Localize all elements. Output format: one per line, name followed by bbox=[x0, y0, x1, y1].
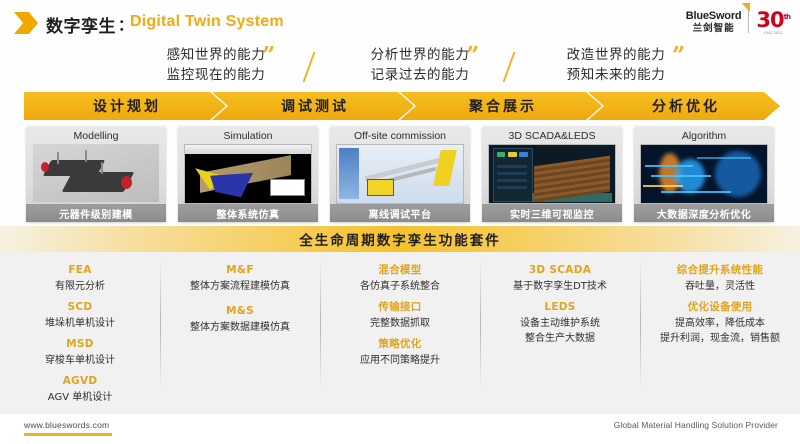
page-title-en: Digital Twin System bbox=[130, 13, 284, 31]
feature-head: 策略优化 bbox=[320, 336, 480, 353]
feature-suite-panel: 全生命周期数字孪生功能套件 FEA 有限元分析 SCD 堆垛机单机设计 MSD … bbox=[0, 226, 800, 414]
feature-head: M&S bbox=[160, 303, 320, 320]
footer-website-link[interactable]: www.blueswords.com bbox=[24, 420, 109, 430]
capability-line-2b: 记录过去的能力 bbox=[332, 66, 508, 86]
feature-head: LEDS bbox=[480, 299, 640, 316]
feature-desc: 应用不同策略提升 bbox=[320, 353, 480, 368]
double-chevron-icon bbox=[14, 12, 38, 34]
card-thumbnail-scada bbox=[488, 144, 616, 204]
feature-group: 传输接口 完整数据抓取 bbox=[320, 299, 480, 331]
feature-desc: 基于数字孪生DT技术 bbox=[480, 279, 640, 294]
feature-desc: 整体方案数据建模仿真 bbox=[160, 320, 320, 335]
anniversary-value: 30 bbox=[756, 8, 783, 32]
card-thumbnail-offsite bbox=[336, 144, 464, 204]
step-aggregate-display[interactable]: 聚合展示 bbox=[400, 92, 602, 120]
feature-column-3: 混合模型 各仿真子系统整合 传输接口 完整数据抓取 策略优化 应用不同策略提升 bbox=[320, 256, 480, 411]
card-thumbnail-modelling bbox=[33, 144, 159, 202]
feature-group: 优化设备使用 提高效率，降低成本提升利润，现金流，销售额 bbox=[640, 299, 800, 346]
feature-group: 综合提升系统性能 吞吐量，灵活性 bbox=[640, 262, 800, 294]
feature-column-1: FEA 有限元分析 SCD 堆垛机单机设计 MSD 穿梭车单机设计 AGVD A… bbox=[0, 256, 160, 411]
feature-group: 策略优化 应用不同策略提升 bbox=[320, 336, 480, 368]
capability-cards: Modelling 元器件级别建模 Simulation 整体系统仿真 bbox=[26, 126, 776, 222]
card-title-1: Modelling bbox=[74, 129, 119, 143]
step-commission-test[interactable]: 调试测试 bbox=[212, 92, 414, 120]
card-title-4: 3D SCADA&LEDS bbox=[509, 129, 596, 143]
feature-desc: 整体方案流程建模仿真 bbox=[160, 279, 320, 294]
card-simulation[interactable]: Simulation 整体系统仿真 bbox=[178, 126, 318, 222]
capability-row: 感知世界的能力 监控现在的能力 ” 分析世界的能力 记录过去的能力 ” 改造世界… bbox=[0, 44, 800, 90]
capability-line-1b: 监控现在的能力 bbox=[128, 66, 304, 86]
feature-head: M&F bbox=[160, 262, 320, 279]
card-caption-5: 大数据深度分析优化 bbox=[634, 204, 774, 222]
footer-tagline: Global Material Handling Solution Provid… bbox=[614, 420, 778, 430]
feature-column-4: 3D SCADA 基于数字孪生DT技术 LEDS 设备主动维护系统整合生产大数据 bbox=[480, 256, 640, 411]
company-logo: BlueSword 兰剑智能 30th 1992-2022 bbox=[686, 8, 790, 36]
brand-flag-icon bbox=[741, 3, 750, 13]
capability-block-2: 分析世界的能力 记录过去的能力 bbox=[332, 46, 508, 85]
feature-columns: FEA 有限元分析 SCD 堆垛机单机设计 MSD 穿梭车单机设计 AGVD A… bbox=[0, 256, 800, 411]
feature-desc: 吞吐量，灵活性 bbox=[640, 279, 800, 294]
feature-desc: 堆垛机单机设计 bbox=[0, 316, 160, 331]
capability-line-1a: 感知世界的能力 bbox=[128, 46, 304, 66]
feature-head: 3D SCADA bbox=[480, 262, 640, 279]
feature-head: FEA bbox=[0, 262, 160, 279]
feature-group: MSD 穿梭车单机设计 bbox=[0, 336, 160, 368]
anniversary-number: 30th bbox=[756, 10, 790, 31]
page-title-cn: 数字孪生 bbox=[46, 12, 116, 37]
feature-head: 优化设备使用 bbox=[640, 299, 800, 316]
feature-head: MSD bbox=[0, 336, 160, 353]
card-offsite-commission[interactable]: Off-site commission 离线调试平台 bbox=[330, 126, 470, 222]
card-title-3: Off-site commission bbox=[354, 129, 446, 143]
card-thumbnail-simulation bbox=[184, 144, 312, 204]
feature-group: FEA 有限元分析 bbox=[0, 262, 160, 294]
feature-column-2: M&F 整体方案流程建模仿真 M&S 整体方案数据建模仿真 bbox=[160, 256, 320, 411]
feature-desc: 各仿真子系统整合 bbox=[320, 279, 480, 294]
brand-text: BlueSword 兰剑智能 bbox=[686, 11, 742, 34]
feature-suite-header: 全生命周期数字孪生功能套件 bbox=[0, 226, 800, 252]
capability-line-2a: 分析世界的能力 bbox=[332, 46, 508, 66]
card-caption-4: 实时三维可视监控 bbox=[482, 204, 622, 222]
separator-slash-1 bbox=[303, 52, 316, 82]
feature-desc: 提高效率，降低成本提升利润，现金流，销售额 bbox=[640, 316, 800, 346]
step-analysis-optimization[interactable]: 分析优化 bbox=[588, 92, 780, 120]
step-label-1: 设计规划 bbox=[89, 96, 161, 116]
feature-suite-title: 全生命周期数字孪生功能套件 bbox=[299, 229, 501, 249]
brand-name-en: BlueSword bbox=[686, 11, 742, 22]
quote-mark-icon-3: ” bbox=[672, 44, 685, 67]
slide-header: 数字孪生 ： Digital Twin System BlueSword 兰剑智… bbox=[0, 0, 800, 42]
card-title-2: Simulation bbox=[223, 129, 272, 143]
feature-head: 传输接口 bbox=[320, 299, 480, 316]
brand-name-cn: 兰剑智能 bbox=[693, 24, 735, 34]
card-caption-1: 元器件级别建模 bbox=[26, 204, 166, 222]
feature-group: 混合模型 各仿真子系统整合 bbox=[320, 262, 480, 294]
card-title-5: Algorithm bbox=[682, 129, 726, 143]
step-label-4: 分析优化 bbox=[648, 96, 720, 116]
feature-desc: AGV 单机设计 bbox=[0, 390, 160, 405]
feature-group: 3D SCADA 基于数字孪生DT技术 bbox=[480, 262, 640, 294]
feature-head: SCD bbox=[0, 299, 160, 316]
logo-divider bbox=[748, 11, 749, 33]
feature-group: M&S 整体方案数据建模仿真 bbox=[160, 303, 320, 335]
feature-desc: 设备主动维护系统整合生产大数据 bbox=[480, 316, 640, 346]
quote-mark-icon-1: ” bbox=[262, 44, 275, 67]
quote-mark-icon-2: ” bbox=[466, 44, 479, 67]
card-thumbnail-algorithm bbox=[640, 144, 768, 204]
feature-column-5: 综合提升系统性能 吞吐量，灵活性 优化设备使用 提高效率，降低成本提升利润，现金… bbox=[640, 256, 800, 411]
feature-head: 混合模型 bbox=[320, 262, 480, 279]
card-modelling[interactable]: Modelling 元器件级别建模 bbox=[26, 126, 166, 222]
card-3d-scada[interactable]: 3D SCADA&LEDS 实时三维可视监控 bbox=[482, 126, 622, 222]
card-caption-2: 整体系统仿真 bbox=[178, 204, 318, 222]
feature-group: M&F 整体方案流程建模仿真 bbox=[160, 262, 320, 294]
step-design-planning[interactable]: 设计规划 bbox=[24, 92, 226, 120]
footer-underline bbox=[24, 433, 112, 436]
feature-head: AGVD bbox=[0, 373, 160, 390]
anniversary-suffix: th bbox=[784, 13, 790, 21]
feature-desc: 完整数据抓取 bbox=[320, 316, 480, 331]
slide-footer: www.blueswords.com Global Material Handl… bbox=[0, 414, 800, 444]
step-label-2: 调试测试 bbox=[277, 96, 349, 116]
step-label-3: 聚合展示 bbox=[465, 96, 537, 116]
slide-root: 数字孪生 ： Digital Twin System BlueSword 兰剑智… bbox=[0, 0, 800, 444]
anniversary-badge: 30th 1992-2022 bbox=[756, 10, 790, 35]
feature-desc: 穿梭车单机设计 bbox=[0, 353, 160, 368]
process-steps: 设计规划 调试测试 聚合展示 分析优化 bbox=[24, 92, 780, 120]
feature-group: LEDS 设备主动维护系统整合生产大数据 bbox=[480, 299, 640, 346]
anniversary-years: 1992-2022 bbox=[764, 31, 783, 35]
card-caption-3: 离线调试平台 bbox=[330, 204, 470, 222]
feature-desc: 有限元分析 bbox=[0, 279, 160, 294]
card-algorithm[interactable]: Algorithm 大数据深度分析优化 bbox=[634, 126, 774, 222]
capability-block-1: 感知世界的能力 监控现在的能力 bbox=[128, 46, 304, 85]
feature-head: 综合提升系统性能 bbox=[640, 262, 800, 279]
feature-group: AGVD AGV 单机设计 bbox=[0, 373, 160, 405]
feature-group: SCD 堆垛机单机设计 bbox=[0, 299, 160, 331]
